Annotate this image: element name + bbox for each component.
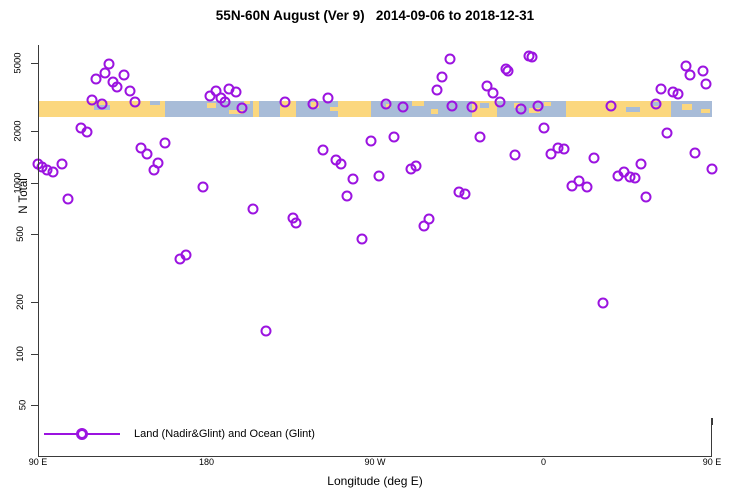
scatter-point (119, 69, 130, 80)
legend-entry[interactable]: Land (Nadir&Glint) and Ocean (Glint) (44, 428, 315, 440)
scatter-point (589, 152, 600, 163)
scatter-point (308, 99, 319, 110)
scatter-point (336, 159, 347, 170)
scatter-point (291, 217, 302, 228)
scatter-point (237, 103, 248, 114)
scatter-point (684, 69, 695, 80)
x-tick-label: 0 (541, 457, 546, 467)
scatter-point (280, 97, 291, 108)
scatter-point (630, 173, 641, 184)
scatter-point (650, 98, 661, 109)
scatter-point (474, 132, 485, 143)
scatter-point (317, 144, 328, 155)
y-tick-label: 2000 (0, 115, 29, 147)
y-tick-label: 200 (0, 286, 29, 318)
ocean-patch (626, 107, 640, 112)
scatter-point (381, 99, 392, 110)
x-tick-label: 180 (199, 457, 214, 467)
scatter-point (424, 214, 435, 225)
scatter-point (707, 164, 718, 175)
scatter-point (527, 51, 538, 62)
scatter-point (516, 104, 527, 115)
scatter-point (641, 192, 652, 203)
scatter-point (690, 147, 701, 158)
scatter-point (160, 137, 171, 148)
scatter-point (635, 159, 646, 170)
scatter-point (231, 86, 242, 97)
y-tick-label: 50 (0, 389, 29, 421)
y-tick-label: 5000 (0, 47, 29, 79)
x-tick (712, 418, 713, 425)
scatter-point (538, 122, 549, 133)
scatter-point (701, 78, 712, 89)
scatter-point (124, 85, 135, 96)
scatter-point (366, 136, 377, 147)
scatter-point (248, 204, 259, 215)
scatter-point (323, 92, 334, 103)
scatter-point (130, 97, 141, 108)
y-axis-line (38, 45, 39, 418)
scatter-point (152, 158, 163, 169)
scatter-point (532, 101, 543, 112)
scatter-point (411, 161, 422, 172)
scatter-point (446, 101, 457, 112)
land-patch (431, 109, 438, 114)
scatter-point (581, 181, 592, 192)
x-tick-label: 90 E (29, 457, 48, 467)
land-patch (701, 109, 710, 113)
scatter-point (96, 98, 107, 109)
legend-line-icon (44, 433, 78, 436)
scatter-point (220, 96, 231, 107)
scatter-point (502, 66, 513, 77)
scatter-point (605, 101, 616, 112)
scatter-point (673, 89, 684, 100)
legend-item-label: Land (Nadir&Glint) and Ocean (Glint) (134, 428, 315, 440)
scatter-point (62, 194, 73, 205)
x-tick-label: 90 W (364, 457, 385, 467)
scatter-point (598, 297, 609, 308)
x-tick-label: 90 E (703, 457, 722, 467)
scatter-point (662, 127, 673, 138)
scatter-point (111, 81, 122, 92)
y-tick-label: 100 (0, 338, 29, 370)
scatter-point (656, 83, 667, 94)
page-title: 55N-60N August (Ver 9) 2014-09-06 to 201… (0, 8, 750, 23)
scatter-point (81, 127, 92, 138)
scatter-point (467, 101, 478, 112)
plot-area (38, 45, 712, 418)
scatter-point (356, 233, 367, 244)
scatter-point (180, 249, 191, 260)
scatter-point (104, 59, 115, 70)
x-axis-label: Longitude (deg E) (0, 474, 750, 488)
scatter-point (388, 132, 399, 143)
scatter-point (197, 182, 208, 193)
land-patch (330, 107, 340, 111)
scatter-point (347, 174, 358, 185)
scatter-point (559, 144, 570, 155)
scatter-point (57, 158, 68, 169)
scatter-point (459, 188, 470, 199)
scatter-point (510, 149, 521, 160)
ocean-patch (150, 101, 160, 105)
land-patch (682, 104, 692, 110)
ocean-patch (480, 103, 489, 108)
scatter-point (141, 148, 152, 159)
scatter-point (431, 84, 442, 95)
legend-line-right-icon (86, 433, 120, 436)
scatter-point (444, 53, 455, 64)
ocean-segment (259, 101, 280, 117)
scatter-point (261, 326, 272, 337)
land-patch (207, 103, 216, 108)
scatter-point (437, 72, 448, 83)
scatter-point (373, 170, 384, 181)
land-patch (544, 102, 551, 106)
y-axis-label: N Total (18, 156, 30, 236)
land-patch (412, 101, 424, 106)
scatter-point (697, 66, 708, 77)
scatter-point (495, 97, 506, 108)
scatter-point (398, 101, 409, 112)
chart-figure: 55N-60N August (Ver 9) 2014-09-06 to 201… (0, 0, 750, 500)
scatter-point (341, 190, 352, 201)
scatter-point (47, 167, 58, 178)
